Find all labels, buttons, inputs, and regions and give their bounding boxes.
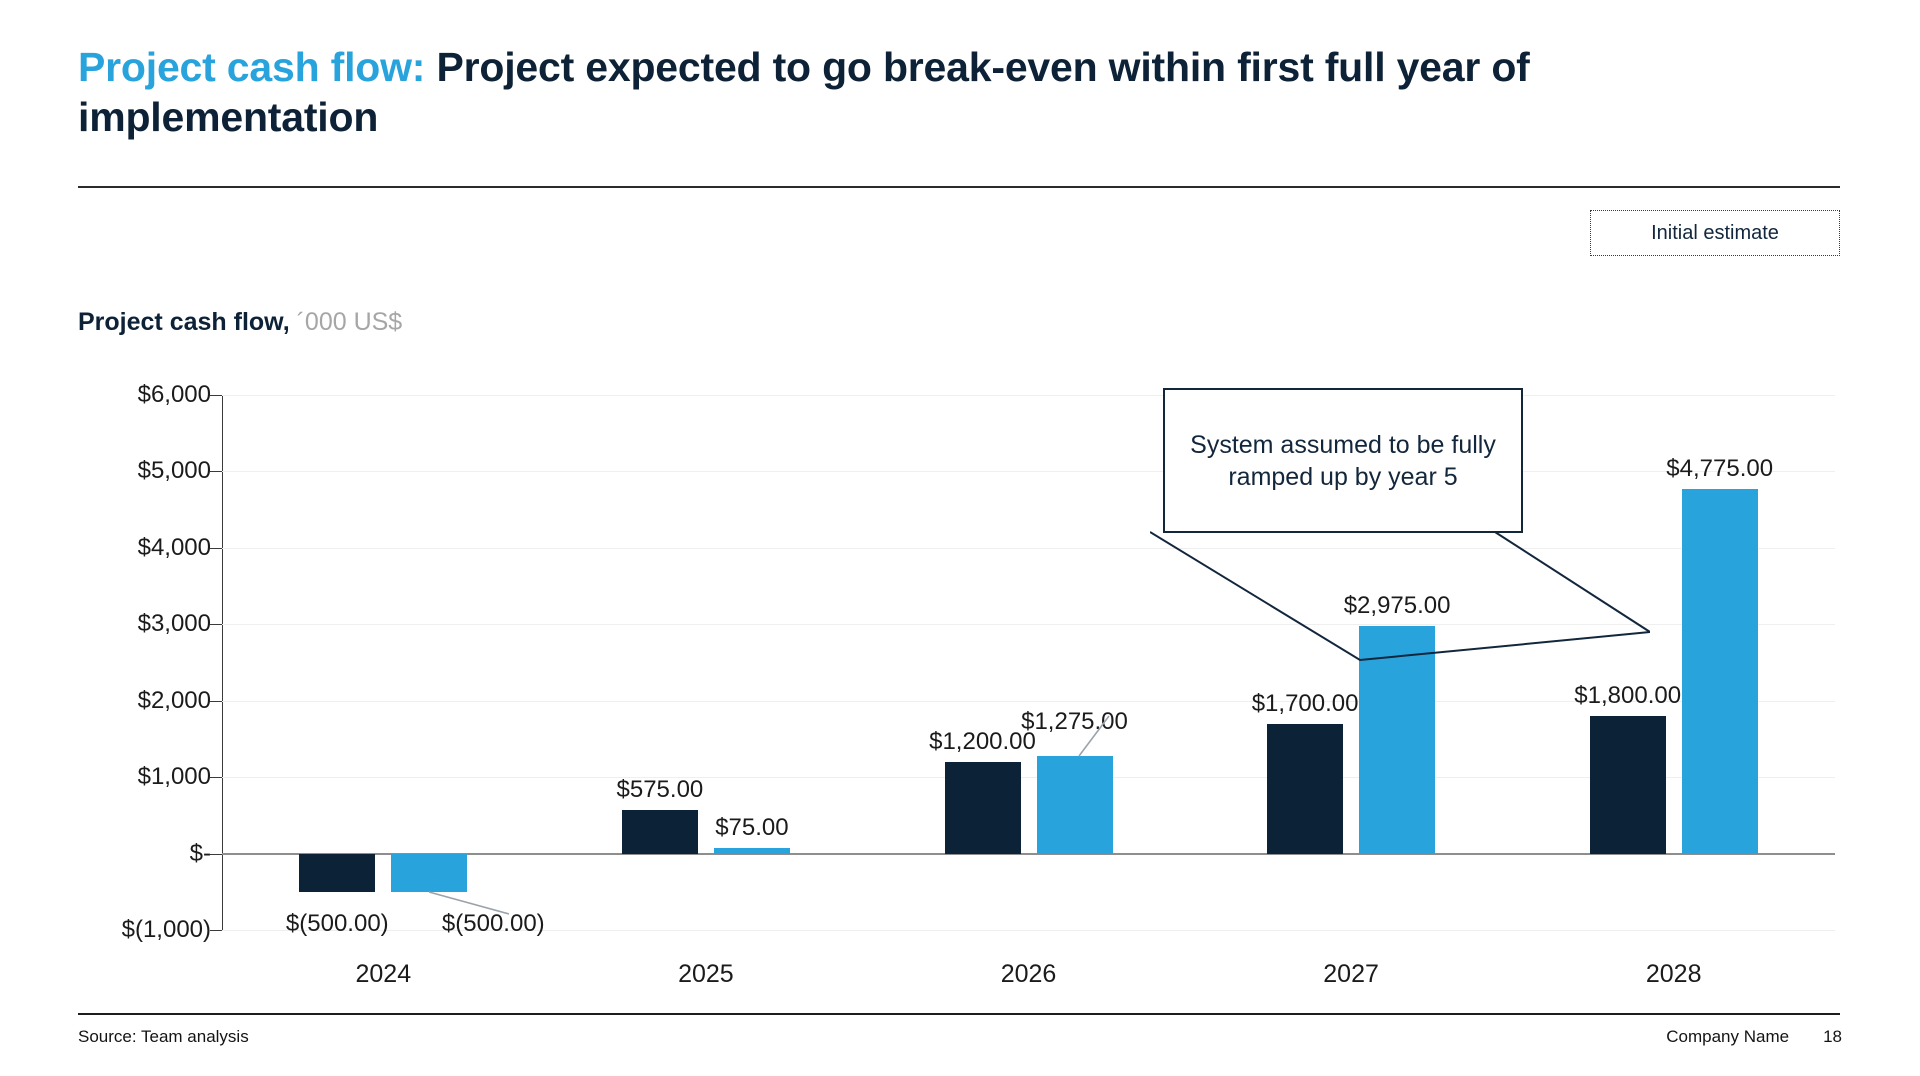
bar-value-label: $1,800.00: [1574, 682, 1681, 710]
y-axis-label: $5,000: [61, 457, 211, 485]
bar-2025-cost[interactable]: [622, 810, 698, 854]
x-axis-label-2026: 2026: [1001, 960, 1057, 989]
x-axis-label-2024: 2024: [355, 960, 411, 989]
page-title: Project cash flow: Project expected to g…: [78, 42, 1840, 142]
x-axis-label-2028: 2028: [1646, 960, 1702, 989]
company-name: Company Name: [1666, 1027, 1789, 1047]
status-badge: Initial estimate: [1590, 210, 1840, 256]
y-axis-tick: [210, 854, 222, 855]
bar-value-label: $1,200.00: [929, 728, 1036, 756]
bar-2024-cost[interactable]: [299, 854, 375, 892]
bar-value-label: $1,700.00: [1252, 690, 1359, 718]
bar-chart: $(500.00)$(500.00)$575.00$75.00$1,200.00…: [78, 385, 1840, 970]
bar-2028-benefit[interactable]: [1682, 489, 1758, 854]
y-axis-line: [222, 395, 223, 930]
gridline: [222, 471, 1835, 472]
y-axis-label: $3,000: [61, 610, 211, 638]
bar-2026-cost[interactable]: [945, 762, 1021, 854]
annotation-callout-text: System assumed to be fully ramped up by …: [1165, 429, 1521, 493]
y-axis-tick: [210, 395, 222, 396]
footer-meta: Company Name 18: [1666, 1027, 1842, 1047]
y-axis-label: $-: [61, 840, 211, 868]
y-axis-tick: [210, 624, 222, 625]
y-axis-tick: [210, 701, 222, 702]
page-number: 18: [1823, 1027, 1842, 1047]
title-divider: [78, 186, 1840, 188]
bar-value-label: $2,975.00: [1344, 592, 1451, 620]
y-axis-tick: [210, 548, 222, 549]
y-axis-tick: [210, 777, 222, 778]
bar-value-label: $(500.00): [286, 910, 389, 938]
bar-value-label: $4,775.00: [1666, 455, 1773, 483]
y-axis-label: $(1,000): [61, 916, 211, 944]
x-axis-label-2027: 2027: [1323, 960, 1379, 989]
status-badge-label: Initial estimate: [1651, 222, 1779, 245]
y-axis-label: $1,000: [61, 763, 211, 791]
bar-2024-benefit[interactable]: [391, 854, 467, 892]
gridline: [222, 395, 1835, 396]
x-axis-label-2025: 2025: [678, 960, 734, 989]
source-note: Source: Team analysis: [78, 1027, 249, 1047]
y-axis-label: $6,000: [61, 381, 211, 409]
bar-value-label: $75.00: [715, 814, 788, 842]
chart-subtitle-bold: Project cash flow,: [78, 308, 290, 336]
bar-value-label: $1,275.00: [1021, 708, 1128, 736]
bar-2026-benefit[interactable]: [1037, 756, 1113, 853]
bar-2025-benefit[interactable]: [714, 848, 790, 854]
y-axis-label: $2,000: [61, 687, 211, 715]
slide-canvas: Project cash flow: Project expected to g…: [0, 0, 1920, 1076]
chart-subtitle: Project cash flow, ´000 US$: [78, 308, 402, 337]
chart-subtitle-units: ´000 US$: [290, 308, 403, 336]
slide-title-text: Project cash flow: Project expected to g…: [78, 42, 1840, 142]
footer-divider: [78, 1013, 1840, 1015]
y-axis-label: $4,000: [61, 534, 211, 562]
y-axis-tick: [210, 471, 222, 472]
bar-value-label: $575.00: [617, 776, 704, 804]
gridline: [222, 624, 1835, 625]
annotation-callout: System assumed to be fully ramped up by …: [1163, 388, 1523, 533]
plot-area: $(500.00)$(500.00)$575.00$75.00$1,200.00…: [222, 395, 1835, 930]
bar-value-label: $(500.00): [442, 910, 545, 938]
y-axis-tick: [210, 930, 222, 931]
slide-title-accent: Project cash flow:: [78, 44, 425, 90]
bar-2028-cost[interactable]: [1590, 716, 1666, 854]
bar-2027-cost[interactable]: [1267, 724, 1343, 854]
bar-2027-benefit[interactable]: [1359, 626, 1435, 853]
gridline: [222, 548, 1835, 549]
